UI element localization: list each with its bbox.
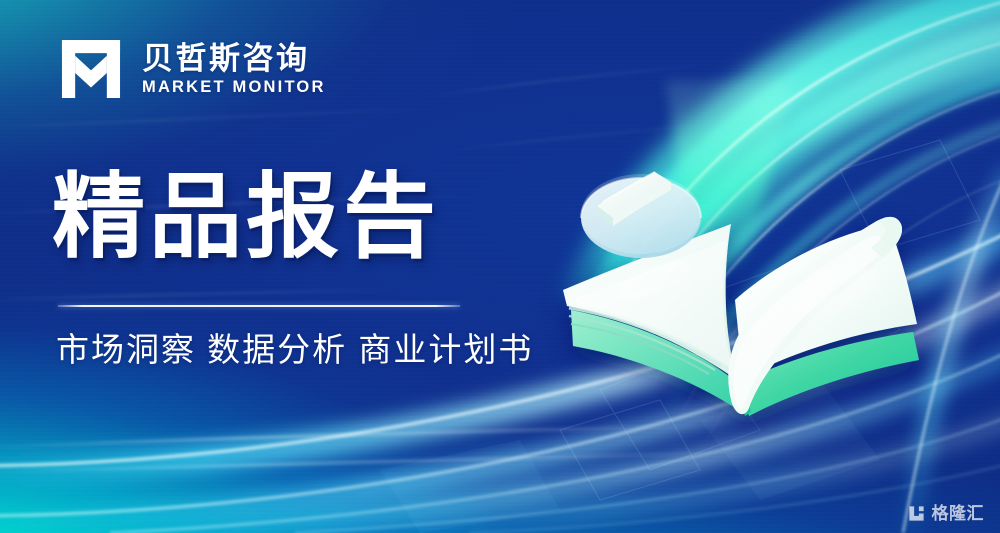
brand-name-en: MARKET MONITOR — [142, 79, 326, 96]
book-page-curl — [728, 217, 902, 414]
book-glint-right — [785, 254, 885, 326]
brand-logo-text: 贝哲斯咨询 MARKET MONITOR — [142, 43, 326, 96]
circular-disc-rim — [581, 178, 701, 218]
watermark-text: 格隆汇 — [932, 505, 985, 522]
brand-name-cn: 贝哲斯咨询 — [142, 43, 326, 74]
brand-logo: 贝哲斯咨询 MARKET MONITOR — [58, 36, 326, 102]
circular-disc — [581, 178, 701, 258]
book-glint-left — [613, 254, 698, 305]
report-cover-banner: 贝哲斯咨询 MARKET MONITOR 精品报告 市场洞察 数据分析 商业计划… — [0, 0, 1000, 533]
book-page-curl-highlight — [733, 236, 883, 409]
watermark: 格隆汇 — [907, 504, 985, 523]
open-book-svg — [545, 150, 945, 425]
circular-disc-highlight — [581, 174, 701, 254]
book-sheet-edges — [569, 308, 721, 374]
open-book-illustration — [545, 150, 945, 425]
page-title: 精品报告 — [52, 168, 440, 268]
title-divider — [58, 305, 460, 307]
gelonghui-g-logo-icon — [907, 504, 926, 523]
light-beam — [665, 80, 795, 272]
small-book-badge — [597, 172, 671, 226]
book-spine — [737, 380, 751, 416]
book-edge-right — [741, 332, 919, 416]
book-page-left-highlight — [575, 240, 733, 370]
book-page-fold — [871, 217, 902, 258]
page-subtitle: 市场洞察 数据分析 商业计划书 — [56, 329, 533, 372]
book-body — [563, 217, 919, 416]
market-monitor-m-logo-icon — [58, 36, 124, 102]
book-page-right — [735, 224, 917, 378]
book-page-left — [563, 224, 737, 380]
book-edge-left — [571, 310, 745, 414]
